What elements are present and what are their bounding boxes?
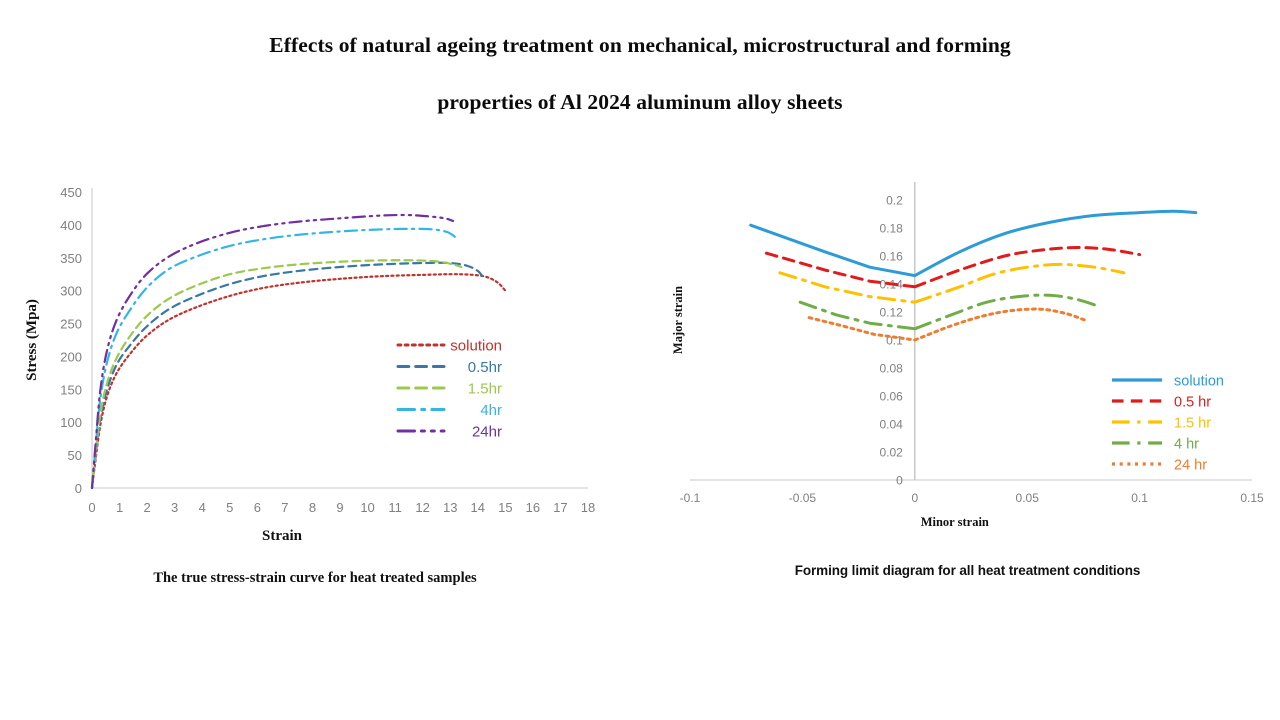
x-axis-tick-label: 10 — [360, 500, 374, 515]
x-axis-tick-label: -0.1 — [680, 491, 701, 505]
x-axis-tick-label: 0.1 — [1131, 491, 1148, 505]
y-axis-tick-label: 350 — [60, 251, 82, 266]
y-axis-tick-label: 250 — [60, 317, 82, 332]
legend-label-24hr: 24 hr — [1174, 458, 1207, 474]
x-axis-tick-label: 4 — [199, 500, 206, 515]
y-axis-tick-label: 0.18 — [879, 222, 903, 236]
legend-label-15hr: 1.5 hr — [1174, 416, 1211, 432]
y-axis-tick-label: 50 — [68, 448, 82, 463]
y-axis-tick-label: 0.16 — [879, 250, 903, 264]
y-axis-tick-label: 0.12 — [879, 306, 903, 320]
x-axis-title: Minor strain — [921, 515, 989, 529]
series-line-24hr — [92, 215, 453, 488]
legend-label-15hr: 1.5hr — [468, 381, 502, 398]
slide: Effects of natural ageing treatment on m… — [0, 0, 1280, 720]
y-axis-tick-label: 0.2 — [886, 194, 903, 208]
x-axis-tick-label: 6 — [254, 500, 261, 515]
title-line-1: Effects of natural ageing treatment on m… — [0, 34, 1280, 58]
x-axis-tick-label: 7 — [281, 500, 288, 515]
x-axis-tick-label: 11 — [388, 500, 402, 515]
y-axis-tick-label: 400 — [60, 218, 82, 233]
y-axis-tick-label: 200 — [60, 349, 82, 364]
y-axis-tick-label: 100 — [60, 415, 82, 430]
caption-forming-limit: Forming limit diagram for all heat treat… — [660, 563, 1275, 578]
x-axis-title: Strain — [262, 528, 303, 544]
figure-stress-strain: 0501001502002503003504004500123456789101… — [10, 170, 620, 600]
legend-label-solution: solution — [1174, 374, 1224, 390]
y-axis-tick-label: 0.02 — [879, 446, 903, 460]
y-axis-tick-label: 450 — [60, 185, 82, 200]
series-line-solution — [92, 274, 505, 488]
y-axis-title: Major strain — [671, 286, 685, 354]
x-axis-tick-label: 17 — [553, 500, 567, 515]
forming-limit-chart: 00.020.040.060.080.10.120.140.160.180.2-… — [660, 170, 1275, 560]
x-axis-tick-label: 18 — [581, 500, 595, 515]
series-line-05hr — [92, 263, 483, 488]
title-line-2: properties of Al 2024 aluminum alloy she… — [0, 91, 1280, 115]
y-axis-tick-label: 0.06 — [879, 390, 903, 404]
legend-label-4hr: 4hr — [480, 402, 502, 419]
stress-strain-chart: 0501001502002503003504004500123456789101… — [10, 170, 620, 565]
figure-forming-limit: 00.020.040.060.080.10.120.140.160.180.2-… — [660, 170, 1275, 600]
y-axis-tick-label: 0.08 — [879, 362, 903, 376]
legend-label-24hr: 24hr — [472, 424, 502, 441]
x-axis-tick-label: 0 — [911, 491, 918, 505]
y-axis-tick-label: 0 — [75, 481, 82, 496]
y-axis-tick-label: 150 — [60, 382, 82, 397]
legend-label-4hr: 4 hr — [1174, 437, 1199, 453]
page-title: Effects of natural ageing treatment on m… — [0, 34, 1280, 114]
x-axis-tick-label: 1 — [116, 500, 123, 515]
legend-label-05hr: 0.5hr — [468, 359, 502, 376]
x-axis-tick-label: 13 — [443, 500, 457, 515]
x-axis-tick-label: 2 — [143, 500, 150, 515]
x-axis-tick-label: 12 — [415, 500, 429, 515]
x-axis-tick-label: 0 — [88, 500, 95, 515]
y-axis-tick-label: 0.04 — [879, 418, 903, 432]
x-axis-tick-label: 14 — [471, 500, 485, 515]
x-axis-tick-label: 3 — [171, 500, 178, 515]
series-line-4hr — [92, 229, 456, 488]
x-axis-tick-label: 5 — [226, 500, 233, 515]
x-axis-tick-label: 16 — [526, 500, 540, 515]
y-axis-tick-label: 300 — [60, 284, 82, 299]
series-line-24hr — [809, 309, 1086, 340]
series-line-15hr — [92, 260, 461, 488]
caption-stress-strain: The true stress-strain curve for heat tr… — [10, 570, 620, 587]
x-axis-tick-label: 9 — [336, 500, 343, 515]
y-axis-title: Stress (Mpa) — [24, 299, 40, 381]
series-line-15hr — [780, 264, 1124, 302]
legend-label-solution: solution — [450, 338, 502, 355]
x-axis-tick-label: 0.05 — [1016, 491, 1040, 505]
legend-label-05hr: 0.5 hr — [1174, 395, 1211, 411]
x-axis-tick-label: 15 — [498, 500, 512, 515]
x-axis-tick-label: 0.15 — [1240, 491, 1264, 505]
x-axis-tick-label: -0.05 — [789, 491, 817, 505]
x-axis-tick-label: 8 — [309, 500, 316, 515]
y-axis-tick-label: 0 — [896, 474, 903, 488]
